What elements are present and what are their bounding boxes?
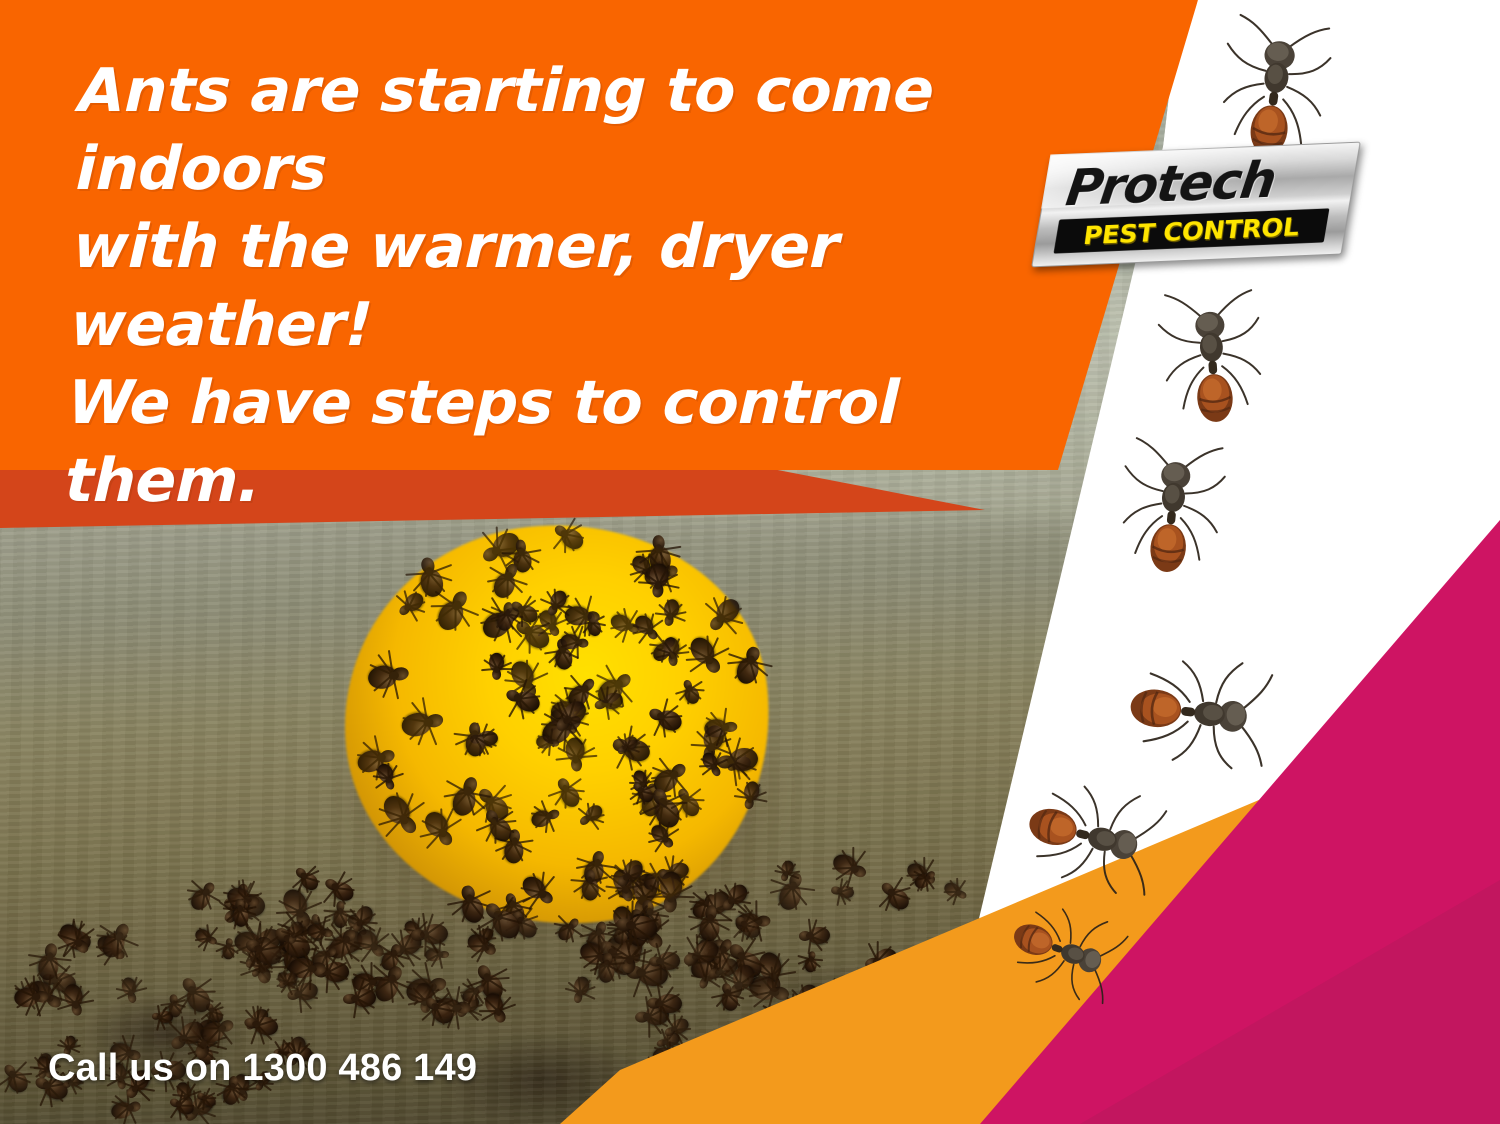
ant-icon bbox=[188, 886, 214, 913]
ant-icon bbox=[375, 762, 396, 785]
ant-icon bbox=[804, 957, 817, 973]
ant-leg bbox=[710, 919, 732, 921]
ant-leg bbox=[853, 850, 867, 868]
ant-icon bbox=[780, 859, 795, 877]
ant-leg bbox=[479, 1010, 498, 1012]
ant-icon bbox=[712, 595, 744, 628]
ant-leg bbox=[487, 978, 506, 992]
ant-leg bbox=[653, 717, 663, 736]
ant-icon bbox=[333, 909, 347, 928]
ant-leg bbox=[387, 763, 389, 779]
ant-leg bbox=[648, 1017, 650, 1038]
ant-leg bbox=[454, 732, 475, 737]
ant-icon bbox=[742, 781, 761, 803]
ant-leg bbox=[181, 1017, 186, 1039]
ant-leg bbox=[422, 697, 428, 722]
ant-leg bbox=[200, 1028, 220, 1030]
ant-icon bbox=[504, 839, 524, 864]
ant-icon bbox=[620, 733, 641, 753]
ant-leg bbox=[13, 1073, 32, 1076]
ant-icon bbox=[512, 688, 542, 715]
ant-leg bbox=[481, 668, 497, 671]
ant-leg bbox=[706, 635, 709, 658]
ant-leg bbox=[431, 605, 456, 607]
ant-icon bbox=[547, 587, 570, 611]
poster-canvas: Ants are starting to come indoors with t… bbox=[0, 0, 1500, 1124]
ant-icon bbox=[657, 994, 682, 1014]
ant-icon bbox=[193, 927, 213, 945]
ant-leg bbox=[528, 632, 530, 654]
ant-leg bbox=[577, 977, 581, 993]
ant-leg bbox=[808, 918, 812, 936]
ant-icon bbox=[942, 880, 963, 900]
ant-leg bbox=[706, 978, 720, 988]
ant-leg bbox=[193, 991, 216, 993]
ant-leg bbox=[299, 888, 301, 912]
ant-leg bbox=[633, 973, 643, 997]
protech-pest-control-logo[interactable]: Protech PEST CONTROL bbox=[1031, 142, 1361, 268]
ant-leg bbox=[392, 675, 399, 700]
ant-leg bbox=[440, 809, 443, 832]
ant-leg bbox=[521, 921, 539, 930]
ant-leg bbox=[496, 527, 499, 551]
ant-leg bbox=[585, 595, 592, 616]
ant-icon bbox=[555, 921, 578, 944]
ant-leg bbox=[498, 917, 504, 942]
ant-icon bbox=[400, 710, 434, 739]
ant-icon bbox=[491, 570, 519, 601]
ant-icon bbox=[558, 525, 587, 552]
ant-leg bbox=[446, 780, 468, 793]
ant-icon bbox=[421, 923, 448, 945]
ant-leg bbox=[195, 937, 209, 941]
ant-icon bbox=[5, 1068, 32, 1096]
ant-leg bbox=[832, 867, 853, 870]
ant-leg bbox=[128, 1107, 137, 1124]
ant-icon bbox=[649, 563, 670, 589]
ant-leg bbox=[673, 1014, 676, 1030]
ant-leg bbox=[201, 893, 206, 911]
ant-icon bbox=[200, 1092, 218, 1108]
ant-icon bbox=[1110, 435, 1230, 606]
ant-icon bbox=[830, 851, 861, 879]
ant-icon bbox=[660, 872, 683, 901]
ant-icon bbox=[401, 589, 427, 614]
ant-icon bbox=[609, 612, 634, 634]
ant-icon bbox=[13, 987, 39, 1008]
ant-leg bbox=[734, 661, 751, 680]
ant-icon bbox=[678, 793, 702, 819]
ant-leg bbox=[554, 589, 557, 606]
ant-leg bbox=[435, 606, 456, 623]
ant-leg bbox=[379, 817, 404, 826]
ant-leg bbox=[877, 942, 879, 962]
ant-leg bbox=[455, 1007, 460, 1029]
headline-text: Ants are starting to come indoors with t… bbox=[64, 52, 1010, 520]
ant-leg bbox=[576, 755, 597, 759]
ant-icon bbox=[703, 718, 728, 738]
ant-leg bbox=[276, 911, 300, 914]
ant-icon bbox=[699, 916, 720, 942]
ant-leg bbox=[27, 954, 49, 959]
ant-icon bbox=[425, 948, 442, 962]
ant-leg bbox=[638, 582, 659, 585]
ant-icon bbox=[884, 885, 913, 914]
ant-leg bbox=[659, 1004, 662, 1025]
ant-leg bbox=[466, 945, 484, 947]
ant-icon bbox=[109, 1099, 134, 1121]
ant-leg bbox=[659, 546, 682, 551]
call-to-action-phone[interactable]: Call us on 1300 486 149 bbox=[48, 1047, 477, 1090]
logo-tagline: PEST CONTROL bbox=[1082, 212, 1301, 250]
ant-icon bbox=[535, 735, 552, 749]
ant-icon bbox=[366, 664, 399, 692]
ant-icon bbox=[658, 952, 681, 970]
ant-icon bbox=[686, 633, 719, 668]
ant-leg bbox=[179, 1104, 194, 1106]
ant-leg bbox=[654, 612, 671, 616]
ant-icon bbox=[655, 707, 684, 734]
ant-leg bbox=[117, 991, 132, 1000]
ant-leg bbox=[577, 642, 579, 659]
ant-leg bbox=[670, 614, 686, 622]
ant-icon bbox=[682, 684, 702, 706]
ant-icon bbox=[724, 881, 750, 908]
ant-leg bbox=[340, 910, 356, 913]
ant-leg bbox=[495, 820, 516, 824]
ant-leg bbox=[33, 1067, 47, 1070]
ant-leg bbox=[521, 610, 523, 627]
ant-leg bbox=[548, 742, 551, 756]
ant-icon bbox=[733, 654, 761, 686]
ant-leg bbox=[263, 966, 287, 968]
ant-leg bbox=[256, 1005, 258, 1025]
ant-leg bbox=[357, 754, 380, 759]
ant-icon bbox=[465, 732, 485, 757]
logo-brand-name: Protech bbox=[1062, 146, 1343, 219]
ant-leg bbox=[579, 955, 599, 959]
ant-leg bbox=[508, 698, 520, 717]
ant-leg bbox=[957, 878, 959, 892]
ant-leg bbox=[66, 1035, 70, 1047]
ant-icon bbox=[434, 597, 469, 634]
ant-leg bbox=[944, 891, 958, 893]
ant-icon bbox=[379, 791, 416, 829]
ant-icon bbox=[252, 1015, 279, 1037]
ant-leg bbox=[564, 534, 566, 553]
ant-icon bbox=[619, 857, 646, 884]
ant-icon bbox=[669, 1015, 692, 1036]
ant-icon bbox=[459, 894, 487, 926]
ant-icon bbox=[583, 802, 606, 824]
ant-leg bbox=[723, 707, 728, 727]
ant-leg bbox=[497, 668, 513, 670]
ant-icon bbox=[631, 612, 656, 637]
ant-icon bbox=[565, 737, 586, 763]
ant-leg bbox=[713, 597, 723, 618]
ant-icon bbox=[489, 653, 504, 672]
ant-leg bbox=[580, 992, 595, 1000]
ant-icon bbox=[62, 983, 84, 1009]
ant-leg bbox=[487, 977, 509, 980]
ant-leg bbox=[469, 890, 491, 902]
ant-leg bbox=[206, 925, 209, 939]
ant-icon bbox=[120, 975, 139, 997]
ant-leg bbox=[325, 938, 345, 941]
ant-leg bbox=[608, 888, 626, 900]
ant-leg bbox=[409, 722, 428, 741]
ant-icon bbox=[572, 975, 591, 997]
ant-leg bbox=[325, 972, 328, 993]
ant-leg bbox=[547, 816, 555, 833]
ant-leg bbox=[320, 932, 324, 948]
ant-icon bbox=[298, 869, 322, 893]
ant-leg bbox=[422, 913, 427, 935]
ant-leg bbox=[455, 986, 461, 1008]
ant-leg bbox=[454, 606, 456, 631]
ant-leg bbox=[570, 879, 589, 882]
ant-icon bbox=[420, 808, 452, 841]
ant-leg bbox=[671, 895, 695, 898]
ant-icon bbox=[352, 903, 375, 928]
ant-leg bbox=[439, 954, 444, 969]
ant-leg bbox=[502, 552, 522, 554]
ant-leg bbox=[506, 578, 508, 599]
ant-leg bbox=[489, 566, 508, 579]
ant-leg bbox=[586, 802, 590, 818]
ant-leg bbox=[734, 795, 751, 799]
ant-icon bbox=[728, 746, 760, 773]
ant-icon bbox=[776, 881, 804, 912]
ant-leg bbox=[774, 869, 787, 874]
ant-leg bbox=[565, 790, 567, 809]
ant-leg bbox=[220, 1028, 234, 1045]
ant-leg bbox=[852, 847, 854, 868]
ant-icon bbox=[581, 878, 599, 901]
ant-icon bbox=[1155, 287, 1270, 455]
ant-leg bbox=[192, 992, 197, 1015]
ant-leg bbox=[514, 839, 534, 844]
ant-icon bbox=[648, 821, 672, 845]
ant-leg bbox=[157, 1004, 161, 1017]
ant-icon bbox=[557, 783, 583, 811]
ant-icon bbox=[222, 944, 234, 960]
ant-leg bbox=[324, 909, 340, 912]
ant-leg bbox=[723, 727, 729, 747]
ant-leg bbox=[291, 921, 296, 935]
ant-leg bbox=[421, 820, 442, 832]
ant-leg bbox=[429, 564, 452, 574]
ant-leg bbox=[722, 608, 743, 619]
ant-leg bbox=[685, 657, 708, 661]
ant-leg bbox=[784, 860, 787, 873]
ant-leg bbox=[521, 549, 541, 554]
ant-icon bbox=[1094, 647, 1275, 774]
ant-leg bbox=[250, 1025, 259, 1045]
ant-leg bbox=[690, 744, 711, 747]
ant-leg bbox=[751, 797, 768, 802]
ant-leg bbox=[576, 857, 596, 865]
ant-icon bbox=[449, 785, 479, 819]
ant-icon bbox=[329, 879, 356, 905]
ant-leg bbox=[698, 765, 713, 768]
ant-leg bbox=[321, 916, 327, 931]
ant-leg bbox=[353, 999, 358, 1019]
ant-icon bbox=[529, 808, 554, 830]
ant-icon bbox=[598, 961, 615, 983]
ant-leg bbox=[647, 895, 671, 897]
ant-icon bbox=[807, 926, 830, 944]
ant-icon bbox=[662, 598, 681, 620]
ant-leg bbox=[420, 831, 442, 838]
ant-leg bbox=[556, 757, 577, 761]
ant-leg bbox=[623, 733, 627, 747]
ant-leg bbox=[957, 880, 967, 893]
ant-leg bbox=[495, 822, 515, 833]
ant-leg bbox=[426, 722, 437, 746]
